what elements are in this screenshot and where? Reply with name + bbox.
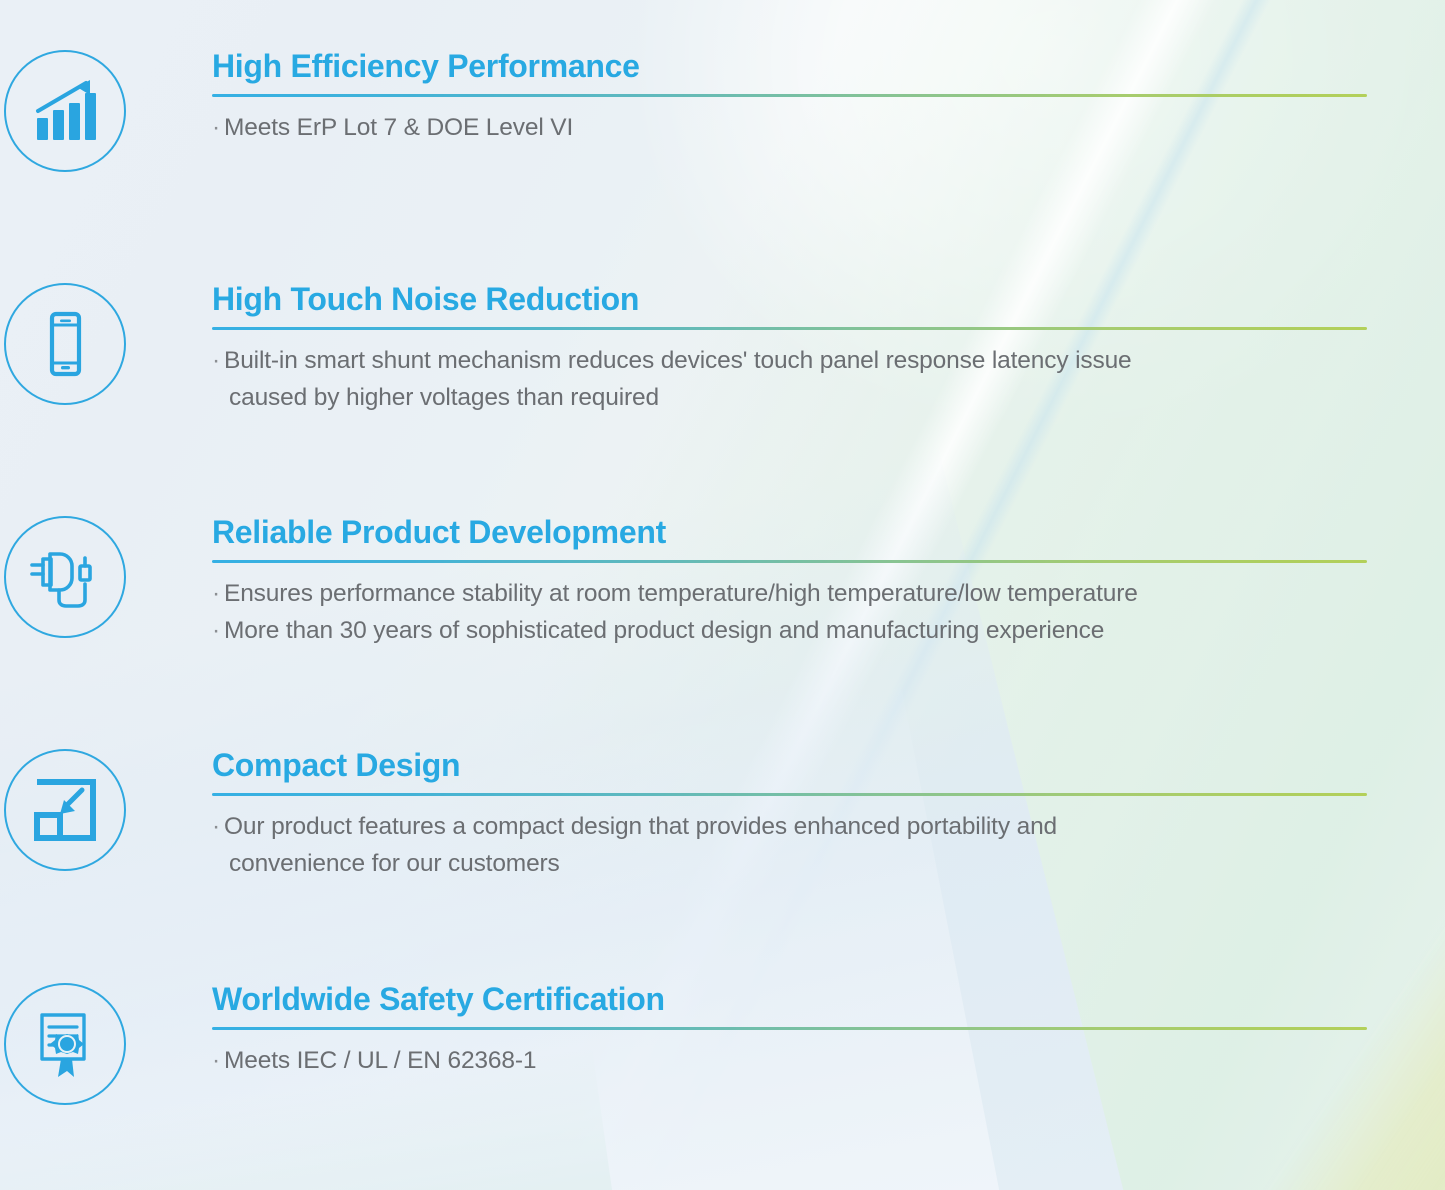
bullet-text: Meets ErP Lot 7 & DOE Level VI bbox=[224, 114, 573, 141]
power-adapter-icon bbox=[4, 516, 126, 638]
feature-icon-container bbox=[0, 48, 130, 172]
feature-item-high-touch-noise-reduction: High Touch Noise Reduction ·Built-in sma… bbox=[0, 281, 1445, 417]
certificate-seal-icon bbox=[4, 983, 126, 1105]
bullet-text-continued: caused by higher voltages than required bbox=[212, 379, 1367, 416]
smartphone-icon bbox=[4, 283, 126, 405]
bullet-text: Built-in smart shunt mechanism reduces d… bbox=[224, 347, 1132, 374]
bullet-text: Meets IEC / UL / EN 62368-1 bbox=[224, 1047, 536, 1074]
feature-bullet-list: ·Meets ErP Lot 7 & DOE Level VI bbox=[212, 109, 1367, 146]
bullet-marker: · bbox=[212, 580, 220, 607]
feature-text-block: Reliable Product Development ·Ensures pe… bbox=[130, 514, 1445, 650]
bullet-marker: · bbox=[212, 114, 220, 141]
feature-title: Reliable Product Development bbox=[212, 514, 1367, 551]
feature-icon-container bbox=[0, 514, 130, 638]
feature-icon-container bbox=[0, 281, 130, 405]
bullet-text: Ensures performance stability at room te… bbox=[224, 580, 1138, 607]
feature-text-block: High Touch Noise Reduction ·Built-in sma… bbox=[130, 281, 1445, 417]
bullet-marker: · bbox=[212, 347, 220, 374]
bullet-text: Our product features a compact design th… bbox=[224, 813, 1057, 840]
feature-bullet-list: ·Meets IEC / UL / EN 62368-1 bbox=[212, 1042, 1367, 1079]
feature-bullet: ·Meets IEC / UL / EN 62368-1 bbox=[212, 1042, 1367, 1079]
feature-bullet: ·Ensures performance stability at room t… bbox=[212, 575, 1367, 612]
feature-title: Worldwide Safety Certification bbox=[212, 981, 1367, 1018]
feature-icon-container bbox=[0, 747, 130, 871]
bullet-text: More than 30 years of sophisticated prod… bbox=[224, 617, 1104, 644]
feature-bullet-list: ·Our product features a compact design t… bbox=[212, 808, 1367, 883]
feature-title: Compact Design bbox=[212, 747, 1367, 784]
feature-divider-rule bbox=[212, 94, 1367, 97]
feature-text-block: High Efficiency Performance ·Meets ErP L… bbox=[130, 48, 1445, 146]
feature-list-page: High Efficiency Performance ·Meets ErP L… bbox=[0, 0, 1445, 1190]
feature-bullet: ·More than 30 years of sophisticated pro… bbox=[212, 612, 1367, 649]
feature-bullet-list: ·Ensures performance stability at room t… bbox=[212, 575, 1367, 650]
feature-bullet: ·Built-in smart shunt mechanism reduces … bbox=[212, 342, 1367, 417]
bar-chart-growth-icon bbox=[4, 50, 126, 172]
feature-divider-rule bbox=[212, 793, 1367, 796]
bullet-marker: · bbox=[212, 617, 220, 644]
feature-bullet: ·Meets ErP Lot 7 & DOE Level VI bbox=[212, 109, 1367, 146]
feature-bullet-list: ·Built-in smart shunt mechanism reduces … bbox=[212, 342, 1367, 417]
feature-bullet: ·Our product features a compact design t… bbox=[212, 808, 1367, 883]
feature-text-block: Compact Design ·Our product features a c… bbox=[130, 747, 1445, 883]
feature-item-compact-design: Compact Design ·Our product features a c… bbox=[0, 747, 1445, 883]
bullet-marker: · bbox=[212, 1047, 220, 1074]
feature-title: High Efficiency Performance bbox=[212, 48, 1367, 85]
feature-divider-rule bbox=[212, 560, 1367, 563]
feature-icon-container bbox=[0, 981, 130, 1105]
compact-resize-icon bbox=[4, 749, 126, 871]
feature-title: High Touch Noise Reduction bbox=[212, 281, 1367, 318]
feature-divider-rule bbox=[212, 1027, 1367, 1030]
bullet-marker: · bbox=[212, 813, 220, 840]
bullet-text-continued: convenience for our customers bbox=[212, 845, 1367, 882]
feature-item-reliable-product-development: Reliable Product Development ·Ensures pe… bbox=[0, 514, 1445, 650]
feature-item-worldwide-safety-certification: Worldwide Safety Certification ·Meets IE… bbox=[0, 981, 1445, 1105]
feature-text-block: Worldwide Safety Certification ·Meets IE… bbox=[130, 981, 1445, 1079]
feature-divider-rule bbox=[212, 327, 1367, 330]
feature-item-high-efficiency-performance: High Efficiency Performance ·Meets ErP L… bbox=[0, 48, 1445, 172]
